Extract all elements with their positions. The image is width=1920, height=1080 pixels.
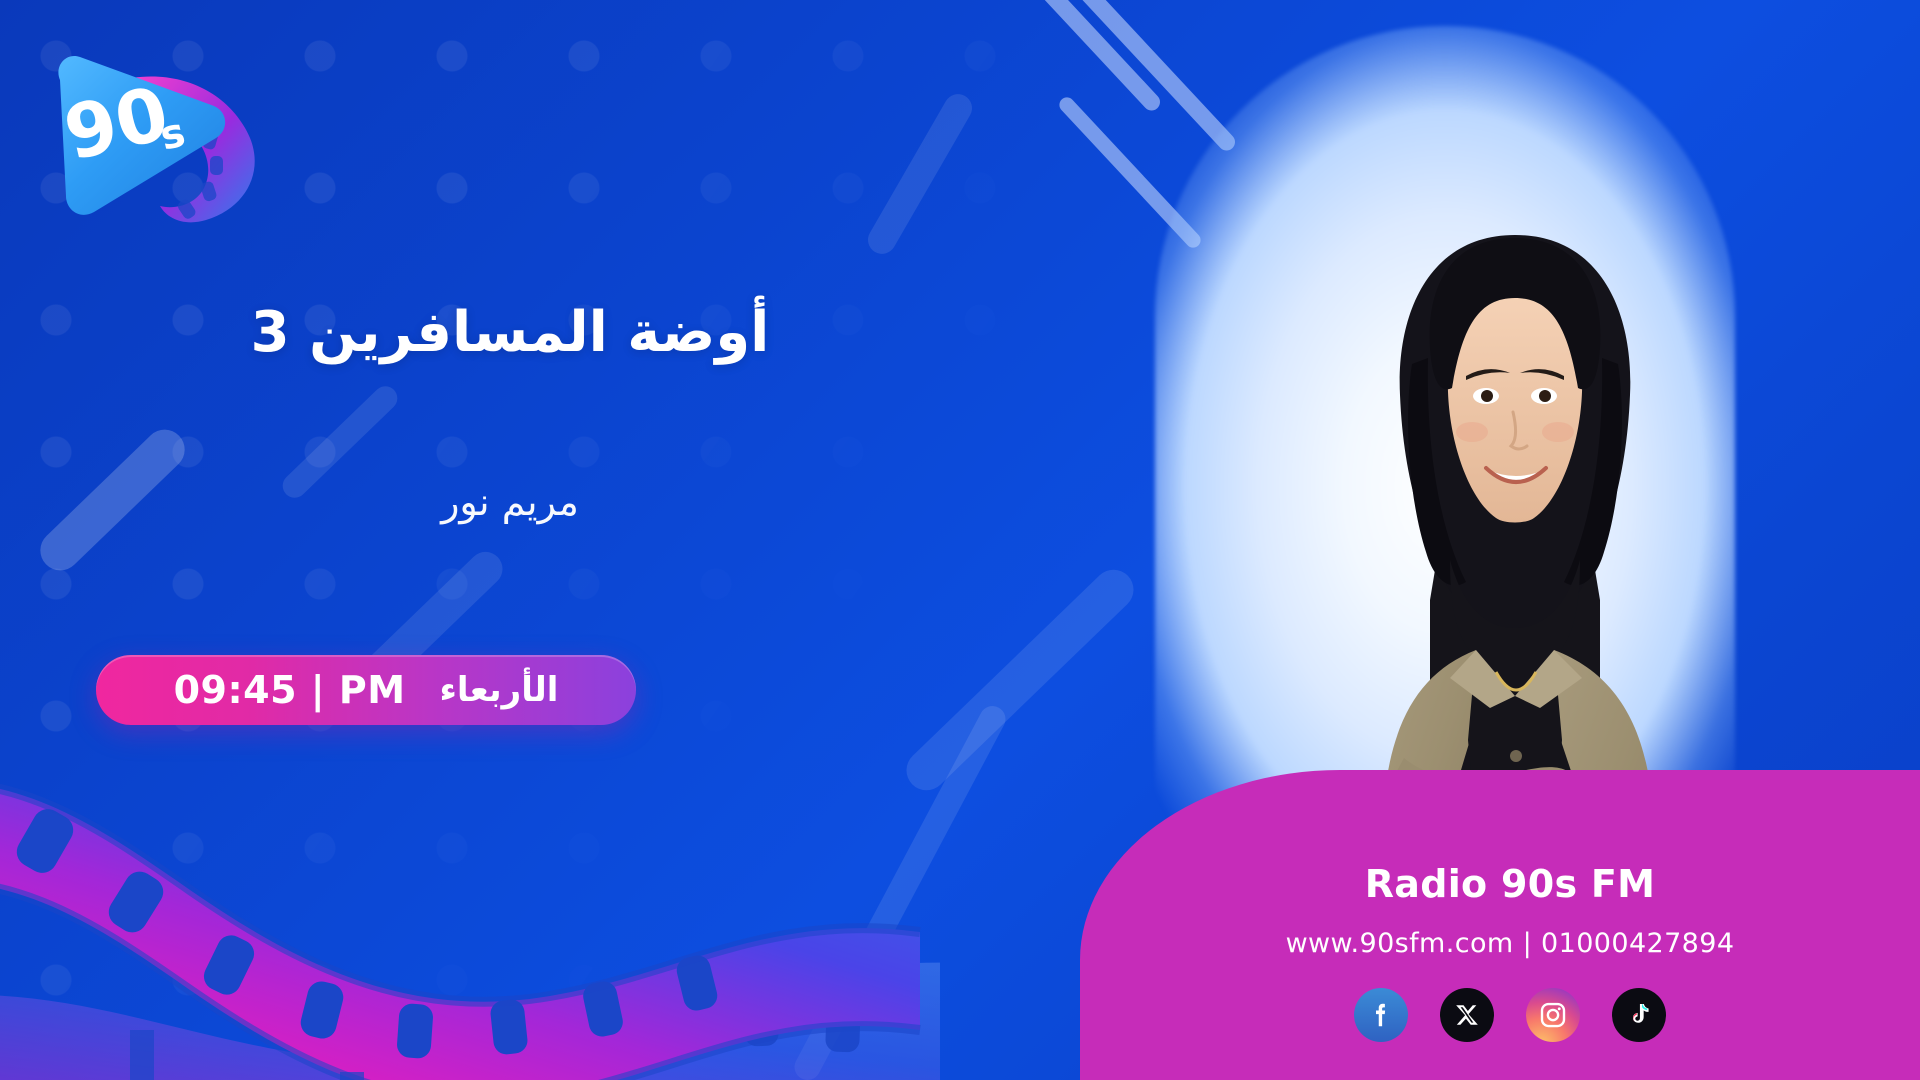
film-strip-decoration <box>0 700 940 1080</box>
instagram-icon[interactable] <box>1526 988 1580 1042</box>
station-name: Radio 90s FM <box>1080 862 1920 906</box>
x-twitter-icon[interactable] <box>1440 988 1494 1042</box>
schedule-badge[interactable]: الأربعاء 09:45 | PM <box>96 655 636 725</box>
contact-line: www.90sfm.com | 01000427894 <box>1080 928 1920 959</box>
radio-90s-logo[interactable]: 90 s <box>36 42 276 232</box>
tiktok-icon[interactable] <box>1612 988 1666 1042</box>
schedule-time: 09:45 | PM <box>174 668 406 712</box>
schedule-day: الأربعاء <box>440 670 559 710</box>
facebook-icon[interactable] <box>1354 988 1408 1042</box>
presenter-name: مريم نور <box>120 480 900 524</box>
social-links <box>1080 988 1920 1042</box>
program-title: أوضة المسافرين 3 <box>120 300 900 365</box>
promo-poster: 90 s أوضة المسافرين 3 مريم نور الأربعاء … <box>0 0 1920 1080</box>
